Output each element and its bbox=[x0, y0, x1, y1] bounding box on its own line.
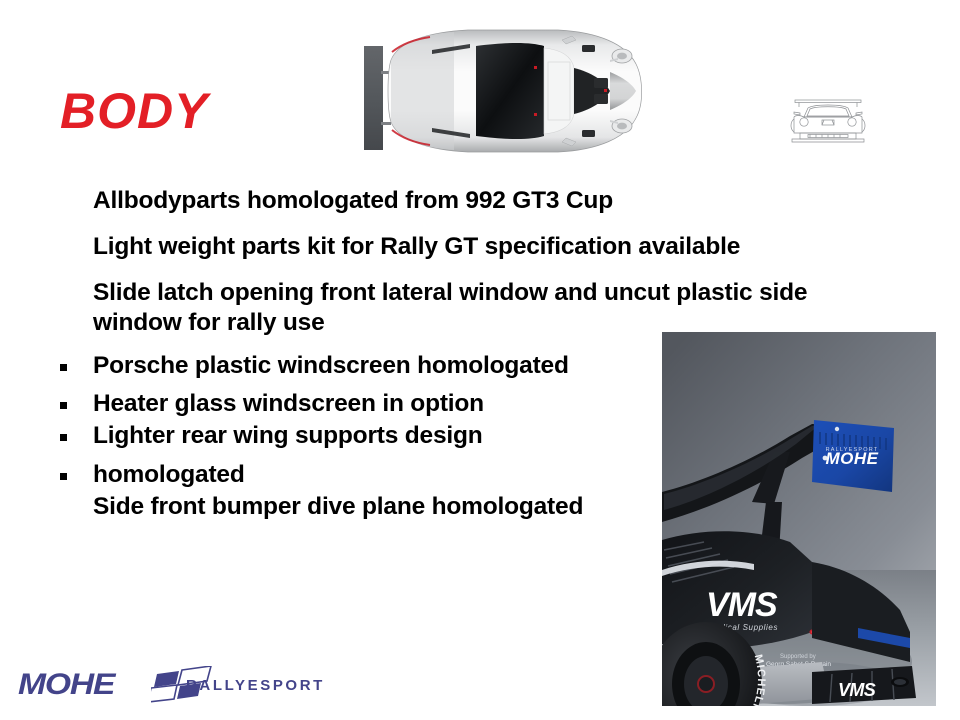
car-front-wireframe-drawing bbox=[786, 95, 870, 147]
svg-text:VMS: VMS bbox=[838, 680, 876, 700]
slide-canvas: BODY bbox=[0, 0, 960, 720]
bullet-marker bbox=[52, 278, 93, 298]
svg-text:VMS: VMS bbox=[706, 586, 778, 624]
car-front-wireframe-svg bbox=[786, 95, 870, 147]
list-item-label: Light weight parts kit for Rally GT spec… bbox=[93, 232, 852, 262]
logo-wordmark-mohe: MOHE bbox=[18, 670, 114, 700]
bullet-marker bbox=[52, 492, 93, 512]
bullet-marker bbox=[52, 186, 93, 206]
list-item: Light weight parts kit for Rally GT spec… bbox=[52, 232, 852, 262]
bullet-marker bbox=[52, 460, 93, 480]
list-item: Slide latch opening front lateral window… bbox=[52, 278, 852, 338]
bullet-marker bbox=[52, 351, 93, 371]
bullet-marker bbox=[52, 389, 93, 409]
logo-tagline-rallyesport: RALLYESPORT bbox=[186, 678, 325, 693]
mohe-rallyesport-logo: MOHE RALLYESPORT bbox=[18, 666, 323, 706]
list-item-label: Slide latch opening front lateral window… bbox=[93, 278, 852, 338]
page-title: BODY bbox=[60, 86, 208, 136]
car-top-view-illustration bbox=[358, 18, 650, 163]
svg-text:RALLYESPORT: RALLYESPORT bbox=[826, 447, 879, 453]
rear-wing-illustration: MOHE RALLYESPORT VMS Medical Supplies bbox=[662, 332, 936, 706]
bullet-marker bbox=[52, 421, 93, 441]
list-item: Allbodyparts homologated from 992 GT3 Cu… bbox=[52, 186, 852, 216]
race-car-rear-wing-photo: MOHE RALLYESPORT VMS Medical Supplies bbox=[662, 332, 936, 706]
svg-text:Supported by: Supported by bbox=[780, 654, 816, 660]
bullet-marker bbox=[52, 232, 93, 252]
porsche-992-gt3-cup-top-view-image bbox=[358, 18, 650, 163]
list-item-label: Allbodyparts homologated from 992 GT3 Cu… bbox=[93, 186, 852, 216]
